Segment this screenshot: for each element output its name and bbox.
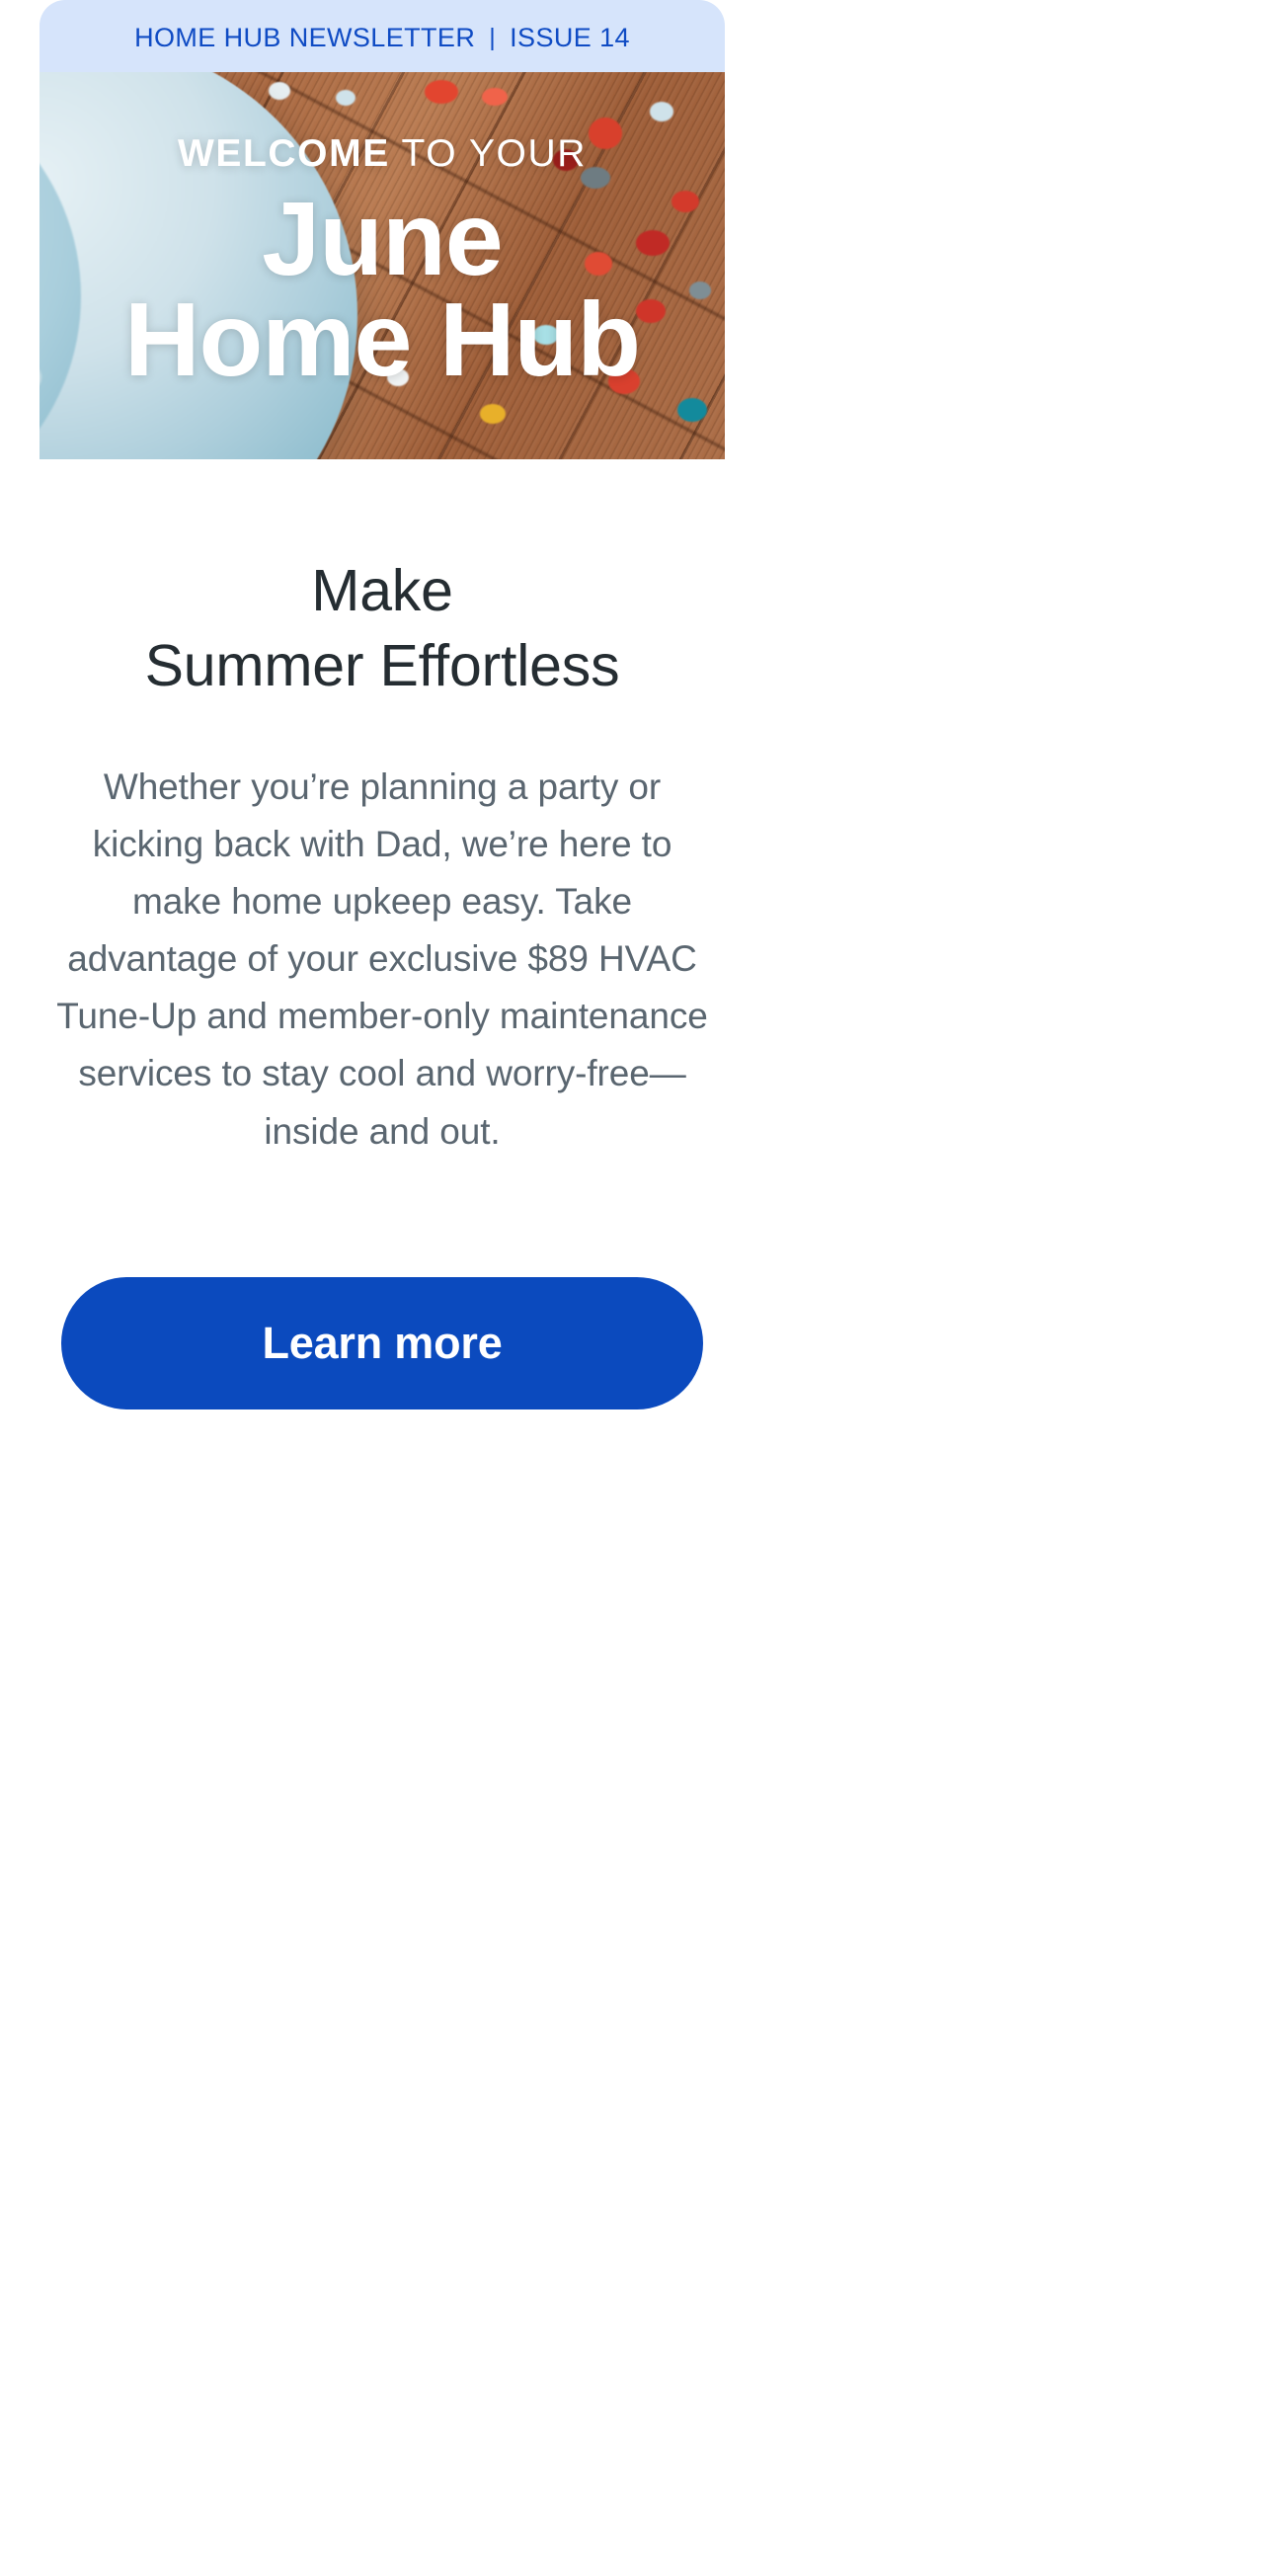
- body-paragraph: Whether you’re planning a party or kicki…: [50, 759, 714, 1161]
- hero-banner: WELCOME TO YOUR June Home Hub: [39, 72, 725, 459]
- headline-line-2: Summer Effortless: [39, 629, 725, 704]
- issue-number-label: ISSUE 14: [510, 23, 630, 53]
- newsletter-email-card: HOME HUB NEWSLETTER | ISSUE 14: [39, 0, 725, 1409]
- hero-eyebrow-rest: TO YOUR: [390, 132, 587, 175]
- hero-title-line1: June: [262, 181, 502, 297]
- hero-text-overlay: WELCOME TO YOUR June Home Hub: [39, 72, 725, 459]
- main-content: Make Summer Effortless Whether you’re pl…: [39, 459, 725, 1409]
- cta-container: Learn more: [39, 1277, 725, 1409]
- newsletter-title-label: HOME HUB NEWSLETTER: [134, 23, 475, 53]
- hero-eyebrow: WELCOME TO YOUR: [178, 134, 587, 173]
- learn-more-button[interactable]: Learn more: [61, 1277, 703, 1409]
- hero-eyebrow-strong: WELCOME: [178, 132, 390, 175]
- section-headline: Make Summer Effortless: [39, 554, 725, 703]
- headline-line-1: Make: [39, 554, 725, 629]
- newsletter-header-content: HOME HUB NEWSLETTER | ISSUE 14: [134, 23, 630, 53]
- hero-title: June Home Hub: [124, 187, 640, 392]
- header-divider: |: [489, 24, 496, 52]
- hero-title-line2: Home Hub: [124, 287, 640, 392]
- newsletter-header-bar: HOME HUB NEWSLETTER | ISSUE 14: [39, 0, 725, 72]
